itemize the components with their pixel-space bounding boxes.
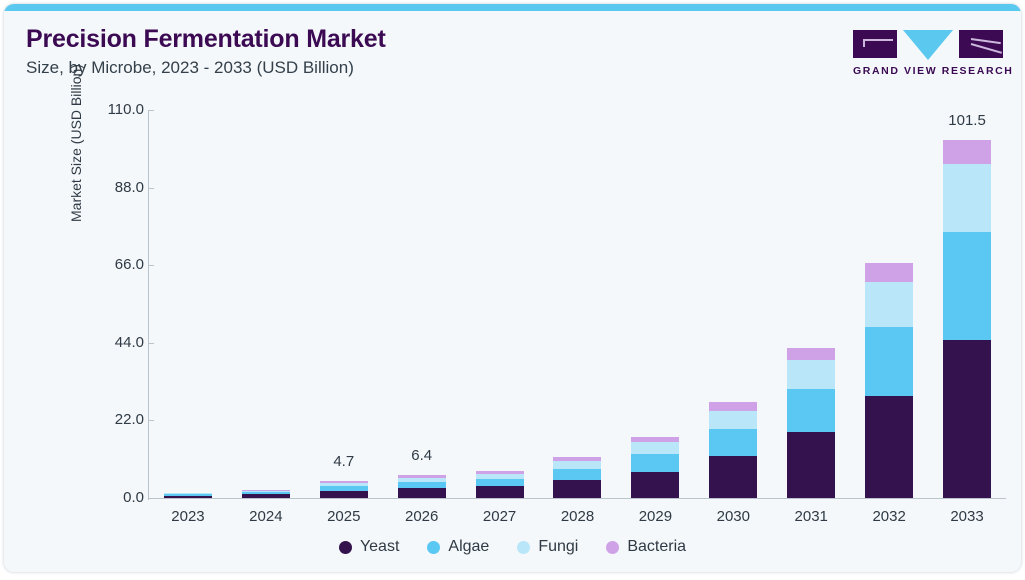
legend-item-algae[interactable]: Algae [427,538,489,556]
legend-label: Fungi [538,538,578,556]
bar-stack[interactable] [631,437,679,498]
bar-segment-yeast[interactable] [865,396,913,498]
bar-stack[interactable] [164,493,212,498]
bar-segment-fungi[interactable] [943,164,991,232]
bar-segment-yeast[interactable] [787,432,835,498]
bar-segment-algae[interactable] [631,454,679,472]
bar-segment-bacteria[interactable] [865,263,913,282]
x-axis-tick-label: 2028 [561,508,594,525]
legend-swatch-icon [606,541,619,554]
bar-segment-fungi[interactable] [865,282,913,327]
y-axis-tick-label: 110.0 [84,101,144,118]
bar-group[interactable] [850,110,928,498]
bar-stack[interactable] [787,348,835,498]
bar-segment-bacteria[interactable] [943,140,991,164]
legend-item-fungi[interactable]: Fungi [517,538,578,556]
bar-segment-algae[interactable] [709,429,757,457]
bar-segment-yeast[interactable] [709,456,757,498]
bar-value-label: 6.4 [411,447,432,464]
bar-group[interactable] [539,110,617,498]
x-axis-tick-label: 2024 [249,508,282,525]
legend-item-bacteria[interactable]: Bacteria [606,538,686,556]
bar-segment-algae[interactable] [476,479,524,487]
legend-swatch-icon [517,541,530,554]
bar-stack[interactable] [553,457,601,498]
x-axis-tick-label: 2029 [639,508,672,525]
bar-segment-fungi[interactable] [553,461,601,469]
legend-label: Bacteria [627,538,686,556]
bar-value-label: 101.5 [948,112,986,129]
bar-group[interactable]: 101.5 [928,110,1006,498]
bar-segment-bacteria[interactable] [787,348,835,360]
legend-label: Algae [448,538,489,556]
bar-stack[interactable] [398,475,446,498]
y-axis-tick-label: 66.0 [84,256,144,273]
x-axis-tick-label: 2033 [950,508,983,525]
y-axis-tick-label: 88.0 [84,179,144,196]
bar-segment-algae[interactable] [943,232,991,340]
chart-card: Precision Fermentation Market Size, by M… [4,4,1021,572]
bar-stack[interactable] [320,481,368,498]
x-axis-line [148,498,1006,499]
x-axis-tick-label: 2026 [405,508,438,525]
bar-stack[interactable] [709,402,757,498]
bar-segment-yeast[interactable] [631,472,679,498]
bar-group[interactable] [694,110,772,498]
y-axis-tick-label: 22.0 [84,411,144,428]
bar-group[interactable]: 6.4 [383,110,461,498]
bar-segment-algae[interactable] [553,469,601,481]
chart-legend: YeastAlgaeFungiBacteria [4,538,1021,556]
bar-group[interactable] [227,110,305,498]
bar-segment-algae[interactable] [865,327,913,395]
y-axis-ticks: 0.022.044.066.088.0110.0 [84,4,144,572]
bar-segment-bacteria[interactable] [709,402,757,410]
bar-stack[interactable] [943,140,991,498]
x-axis-tick-label: 2025 [327,508,360,525]
y-axis-tick-label: 0.0 [84,489,144,506]
x-axis-tick-label: 2032 [872,508,905,525]
plot-area: Market Size (USD Billion) 0.022.044.066.… [4,4,1021,572]
bar-segment-algae[interactable] [787,389,835,433]
bar-segment-yeast[interactable] [242,494,290,498]
x-axis-tick-label: 2023 [171,508,204,525]
bar-segment-yeast[interactable] [164,496,212,498]
bar-group[interactable] [772,110,850,498]
bar-stack[interactable] [242,490,290,498]
bar-segment-fungi[interactable] [709,411,757,429]
y-axis-tick-label: 44.0 [84,334,144,351]
bars-container: 4.76.4101.5 [149,110,1006,498]
bar-group[interactable]: 4.7 [305,110,383,498]
bar-segment-yeast[interactable] [476,486,524,498]
bar-segment-fungi[interactable] [787,360,835,389]
x-axis-tick-label: 2030 [717,508,750,525]
bar-segment-yeast[interactable] [943,340,991,498]
legend-swatch-icon [339,541,352,554]
legend-label: Yeast [360,538,399,556]
bar-stack[interactable] [865,263,913,498]
bar-stack[interactable] [476,471,524,498]
bar-group[interactable] [616,110,694,498]
legend-item-yeast[interactable]: Yeast [339,538,399,556]
bar-segment-fungi[interactable] [631,442,679,454]
bar-group[interactable] [149,110,227,498]
bar-segment-yeast[interactable] [320,491,368,498]
legend-swatch-icon [427,541,440,554]
bar-group[interactable] [461,110,539,498]
bar-value-label: 4.7 [333,453,354,470]
bar-segment-yeast[interactable] [398,488,446,498]
x-axis-tick-label: 2031 [795,508,828,525]
bar-segment-yeast[interactable] [553,480,601,498]
x-axis-tick-label: 2027 [483,508,516,525]
y-axis-title: Market Size (USD Billion) [68,64,84,222]
